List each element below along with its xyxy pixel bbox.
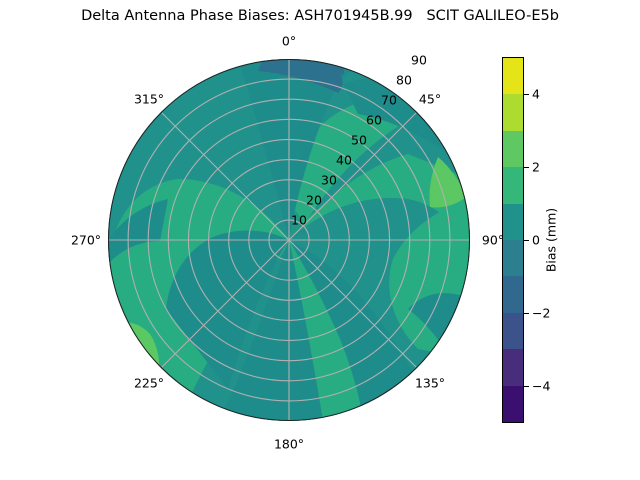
colorbar-band — [503, 204, 523, 240]
angular-tick-45: 45° — [419, 92, 441, 107]
colorbar-band — [503, 276, 523, 312]
bias-contour-field — [108, 59, 470, 421]
colorbar: 4 2 0 −2 −4 — [502, 57, 524, 423]
radial-tick-10: 10 — [291, 213, 307, 228]
polar-plot-area — [108, 59, 470, 421]
polar-axes: 0° 45° 90° 135° 180° 225° 270° 315° 10 2… — [108, 59, 470, 421]
colorbar-band — [503, 58, 523, 94]
radial-tick-80: 80 — [396, 73, 412, 88]
colorbar-tick-mark — [524, 240, 529, 241]
angular-tick-225: 225° — [134, 376, 164, 391]
colorbar-tick-mark — [524, 94, 529, 95]
colorbar-tick-label-m4: −4 — [532, 379, 550, 394]
colorbar-band — [503, 240, 523, 276]
colorbar-band — [503, 131, 523, 167]
angular-tick-180: 180° — [274, 437, 304, 452]
colorbar-tick-mark — [524, 313, 529, 314]
radial-tick-50: 50 — [351, 133, 367, 148]
colorbar-tick-mark — [524, 386, 529, 387]
angular-tick-135: 135° — [415, 376, 445, 391]
angular-tick-90: 90° — [482, 233, 504, 248]
angular-tick-315: 315° — [134, 92, 164, 107]
colorbar-band — [503, 94, 523, 130]
radial-tick-40: 40 — [336, 153, 352, 168]
radial-tick-60: 60 — [366, 113, 382, 128]
colorbar-tick-mark — [524, 167, 529, 168]
colorbar-tick-label-0: 0 — [532, 233, 540, 248]
radial-tick-20: 20 — [306, 193, 322, 208]
colorbar-band — [503, 386, 523, 422]
colorbar-gradient — [502, 57, 524, 423]
angular-tick-270: 270° — [71, 233, 101, 248]
colorbar-axis-label: Bias (mm) — [544, 208, 559, 272]
chart-title: Delta Antenna Phase Biases: ASH701945B.9… — [0, 8, 640, 24]
radial-tick-90: 90 — [411, 53, 427, 68]
radial-tick-70: 70 — [381, 93, 397, 108]
angular-tick-0: 0° — [282, 34, 296, 49]
colorbar-band — [503, 349, 523, 385]
figure-canvas: Delta Antenna Phase Biases: ASH701945B.9… — [0, 0, 640, 480]
colorbar-tick-label-m2: −2 — [532, 306, 550, 321]
colorbar-tick-label-2: 2 — [532, 159, 540, 174]
colorbar-band — [503, 167, 523, 203]
colorbar-band — [503, 313, 523, 349]
radial-tick-30: 30 — [321, 173, 337, 188]
colorbar-tick-label-4: 4 — [532, 86, 540, 101]
